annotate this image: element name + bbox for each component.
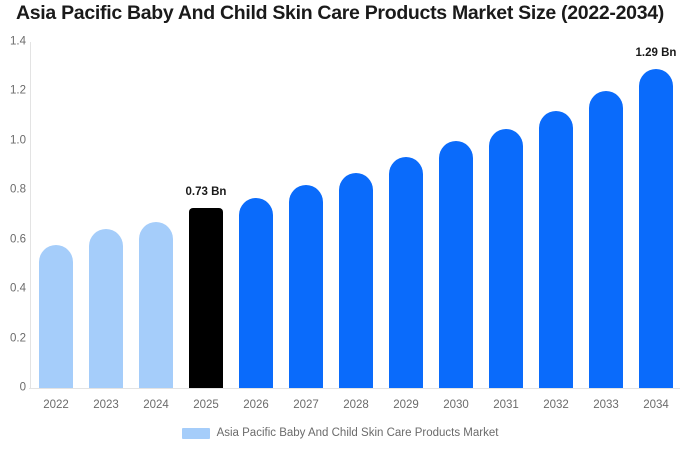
y-axis-tick-label: 0.2 xyxy=(0,333,26,345)
bar-2028[interactable] xyxy=(339,173,373,388)
bar-2034[interactable] xyxy=(639,69,673,388)
x-axis-tick-label-2027: 2027 xyxy=(293,400,319,412)
x-axis-tick-label-2032: 2032 xyxy=(543,400,569,412)
bar-2022[interactable] xyxy=(39,245,73,388)
chart-title: Asia Pacific Baby And Child Skin Care Pr… xyxy=(0,2,680,25)
x-axis-tick-label-2030: 2030 xyxy=(443,400,469,412)
bar-value-label-2025: 0.73 Bn xyxy=(186,187,227,199)
x-axis-tick-label-2033: 2033 xyxy=(593,400,619,412)
x-axis-line xyxy=(29,388,680,389)
x-axis-tick-label-2026: 2026 xyxy=(243,400,269,412)
bar-2026[interactable] xyxy=(239,198,273,388)
x-axis-tick-label-2028: 2028 xyxy=(343,400,369,412)
bar-2032[interactable] xyxy=(539,111,573,388)
y-axis-tick-label: 1.4 xyxy=(0,36,26,48)
bar-2024[interactable] xyxy=(139,222,173,388)
x-axis-tick-label-2022: 2022 xyxy=(43,400,69,412)
y-axis-tick-label: 0 xyxy=(0,382,26,394)
chart-legend: Asia Pacific Baby And Child Skin Care Pr… xyxy=(0,427,680,439)
legend-swatch-icon xyxy=(182,428,210,439)
bar-2025[interactable] xyxy=(189,208,223,388)
bar-2030[interactable] xyxy=(439,141,473,388)
y-axis-tick-label: 0.4 xyxy=(0,283,26,295)
y-axis-tick-labels: 00.20.40.60.81.01.21.4 xyxy=(0,0,26,450)
x-axis-tick-label-2024: 2024 xyxy=(143,400,169,412)
x-axis-tick-label-2029: 2029 xyxy=(393,400,419,412)
y-axis-tick-label: 0.6 xyxy=(0,234,26,246)
y-axis-tick-label: 1.2 xyxy=(0,86,26,98)
bar-2033[interactable] xyxy=(589,91,623,388)
x-axis-tick-label-2031: 2031 xyxy=(493,400,519,412)
x-axis-tick-label-2023: 2023 xyxy=(93,400,119,412)
y-axis-tick-label: 0.8 xyxy=(0,185,26,197)
x-axis-tick-label-2034: 2034 xyxy=(643,400,669,412)
bar-2031[interactable] xyxy=(489,129,523,389)
legend-label: Asia Pacific Baby And Child Skin Care Pr… xyxy=(217,427,499,439)
bar-2023[interactable] xyxy=(89,229,123,388)
y-axis-tick-label: 1.0 xyxy=(0,135,26,147)
x-axis-tick-label-2025: 2025 xyxy=(193,400,219,412)
plot-area xyxy=(30,42,680,388)
bar-2027[interactable] xyxy=(289,185,323,388)
bar-chart: Asia Pacific Baby And Child Skin Care Pr… xyxy=(0,0,680,450)
bar-value-label-2034: 1.29 Bn xyxy=(636,48,677,60)
bar-2029[interactable] xyxy=(389,157,423,388)
